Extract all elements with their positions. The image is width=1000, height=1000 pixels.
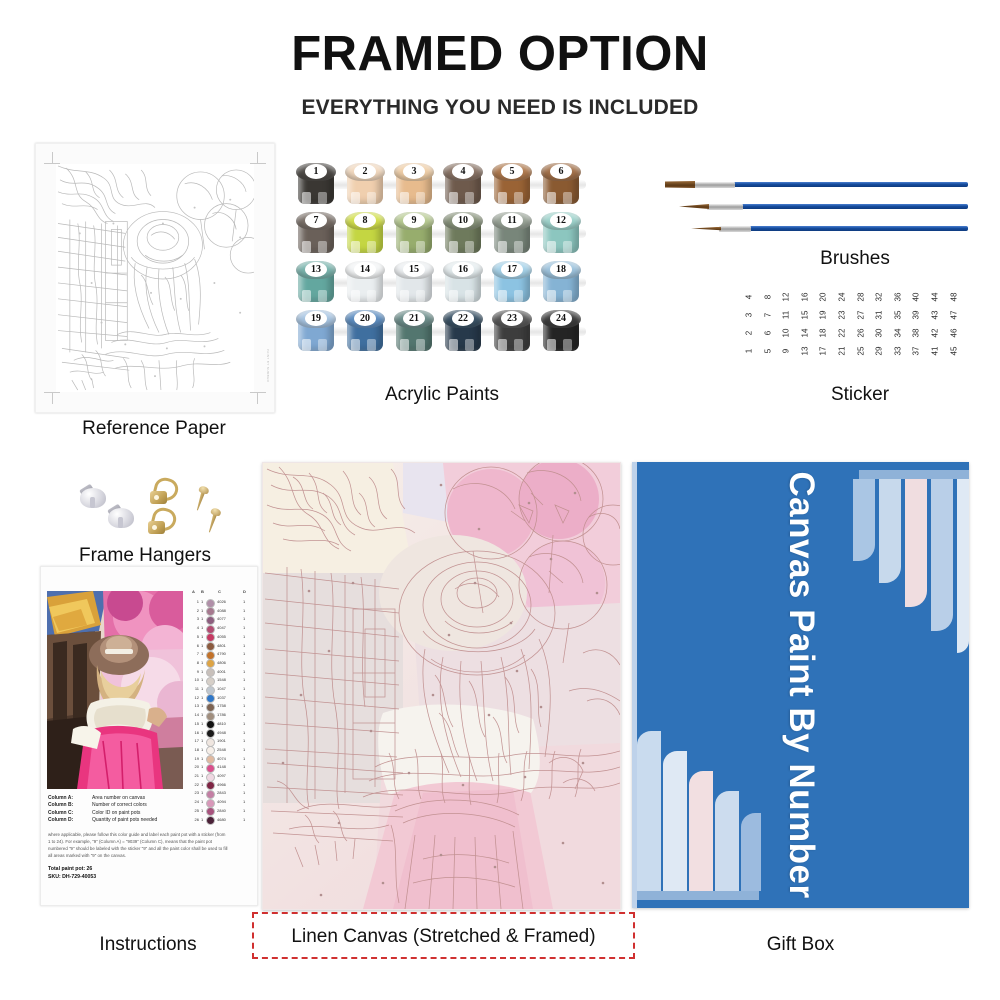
legend-area-number: 13 bbox=[191, 703, 199, 708]
legend-color-id: 1786 bbox=[217, 712, 226, 717]
legend-row: 12110371 bbox=[191, 694, 251, 703]
sticker-number: 29 bbox=[871, 344, 889, 359]
sticker-number: 23 bbox=[834, 308, 852, 323]
legend-quantity: 1 bbox=[243, 738, 245, 743]
legend-area-number: 1 bbox=[191, 599, 199, 604]
legend-area-number: 15 bbox=[191, 721, 199, 726]
legend-row: 16149481 bbox=[191, 729, 251, 738]
sticker-number: 32 bbox=[871, 290, 889, 305]
paint-pot-number: 17 bbox=[501, 262, 523, 277]
sticker-number: 1 bbox=[741, 344, 759, 359]
page-subtitle: EVERYTHING YOU NEED IS INCLUDED bbox=[0, 96, 1000, 120]
legend-color-count: 1 bbox=[201, 634, 203, 639]
legend-color-id: 2548 bbox=[217, 747, 226, 752]
legend-row: 4140471 bbox=[191, 624, 251, 633]
sticker-number: 19 bbox=[815, 308, 833, 323]
legend-color-id: 4077 bbox=[217, 616, 226, 621]
legend-quantity: 1 bbox=[243, 660, 245, 665]
paint-pot-number: 8 bbox=[354, 213, 376, 228]
sticker-column: 37383940 bbox=[909, 288, 924, 360]
screw-icon bbox=[204, 507, 222, 535]
sticker-number: 20 bbox=[815, 290, 833, 305]
sticker-number: 46 bbox=[945, 326, 963, 341]
caption-reference-paper: Reference Paper bbox=[35, 418, 273, 440]
legend-quantity: 1 bbox=[243, 677, 245, 682]
legend-row: 22149661 bbox=[191, 781, 251, 790]
legend-color-id: 1037 bbox=[217, 695, 226, 700]
sticker-number: 36 bbox=[889, 290, 907, 305]
instruction-column-key: Column C: bbox=[48, 810, 92, 817]
legend-color-count: 1 bbox=[201, 660, 203, 665]
instruction-column-line: Column A:Area number on canvas bbox=[48, 795, 248, 802]
paint-pot-18: 18 bbox=[541, 261, 581, 303]
legend-color-id: 4097 bbox=[217, 773, 226, 778]
sticker-number: 35 bbox=[889, 308, 907, 323]
sticker-number: 27 bbox=[852, 308, 870, 323]
instruction-column-line: Column B:Number of correct colors bbox=[48, 802, 248, 809]
legend-quantity: 1 bbox=[243, 747, 245, 752]
sticker-number: 13 bbox=[796, 344, 814, 359]
instruction-column-desc: Quantity of paint pots needed bbox=[92, 817, 157, 823]
caption-acrylic-paints: Acrylic Paints bbox=[292, 384, 592, 406]
instruction-column-key: Column D: bbox=[48, 817, 92, 824]
sticker-number: 9 bbox=[778, 344, 796, 359]
brush-round-fine bbox=[623, 216, 968, 242]
paint-pot-number: 20 bbox=[354, 311, 376, 326]
legend-quantity: 1 bbox=[243, 764, 245, 769]
legend-area-number: 8 bbox=[191, 660, 199, 665]
legend-quantity: 1 bbox=[243, 695, 245, 700]
sticker-number: 30 bbox=[871, 326, 889, 341]
sticker-number: 7 bbox=[759, 308, 777, 323]
sticker-sheet: 1234567891011121314151617181920212223242… bbox=[742, 288, 967, 360]
legend-quantity: 1 bbox=[243, 616, 245, 621]
paint-pot-23: 23 bbox=[492, 310, 532, 352]
legend-row: 15148101 bbox=[191, 720, 251, 729]
paint-pot-number: 16 bbox=[452, 262, 474, 277]
paint-pot-16: 16 bbox=[443, 261, 483, 303]
legend-color-id: 4055 bbox=[217, 634, 226, 639]
legend-color-count: 1 bbox=[201, 764, 203, 769]
sticker-column: 45464748 bbox=[947, 288, 962, 360]
sticker-column: 41424344 bbox=[928, 288, 943, 360]
sticker-number: 43 bbox=[927, 308, 945, 323]
sku-label: SKU: DH-729-40053 bbox=[48, 873, 248, 881]
sticker-number: 6 bbox=[759, 326, 777, 341]
legend-color-id: 4148 bbox=[217, 764, 226, 769]
sticker-number: 33 bbox=[889, 344, 907, 359]
legend-header-b: B bbox=[201, 589, 204, 594]
wall-plug-icon bbox=[80, 482, 106, 508]
frame-hangers-group bbox=[60, 468, 235, 546]
sticker-number: 38 bbox=[908, 326, 926, 341]
sticker-number: 16 bbox=[796, 290, 814, 305]
legend-color-count: 1 bbox=[201, 651, 203, 656]
caption-linen-canvas: Linen Canvas (Stretched & Framed) bbox=[254, 926, 633, 948]
legend-area-number: 19 bbox=[191, 756, 199, 761]
paint-pot-number: 23 bbox=[501, 311, 523, 326]
legend-row: 1140261 bbox=[191, 598, 251, 607]
instruction-column-line: Column D:Quantity of paint pots needed bbox=[48, 817, 248, 824]
legend-color-id: 4074 bbox=[217, 756, 226, 761]
sticker-number: 37 bbox=[908, 344, 926, 359]
caption-instructions: Instructions bbox=[40, 934, 256, 956]
legend-color-count: 1 bbox=[201, 677, 203, 682]
paint-pot-number: 19 bbox=[305, 311, 327, 326]
paint-pot-20: 20 bbox=[345, 310, 385, 352]
sticker-number: 21 bbox=[834, 344, 852, 359]
legend-area-number: 12 bbox=[191, 695, 199, 700]
legend-header-a: A bbox=[192, 589, 195, 594]
sticker-number: 2 bbox=[741, 326, 759, 341]
legend-color-count: 1 bbox=[201, 703, 203, 708]
legend-color-id: 4088 bbox=[217, 608, 226, 613]
legend-quantity: 1 bbox=[243, 625, 245, 630]
paint-pot-4: 4 bbox=[443, 163, 483, 205]
legend-area-number: 21 bbox=[191, 773, 199, 778]
legend-area-number: 20 bbox=[191, 764, 199, 769]
legend-quantity: 1 bbox=[243, 634, 245, 639]
sticker-number: 39 bbox=[908, 308, 926, 323]
paint-pot-9: 9 bbox=[394, 212, 434, 254]
instruction-column-key: Column A: bbox=[48, 795, 92, 802]
instruction-column-desc: Number of correct colors bbox=[92, 802, 147, 808]
sticker-number: 4 bbox=[741, 290, 759, 305]
wall-plug-icon bbox=[108, 502, 134, 528]
paint-pot-number: 11 bbox=[501, 213, 523, 228]
sticker-number: 15 bbox=[796, 308, 814, 323]
legend-area-number: 10 bbox=[191, 677, 199, 682]
legend-header-c: C bbox=[218, 589, 221, 594]
reference-paper-image: PAINT BY NUMBER bbox=[35, 143, 275, 413]
legend-quantity: 1 bbox=[243, 703, 245, 708]
paint-pot-number: 1 bbox=[305, 164, 327, 179]
legend-row: 8148061 bbox=[191, 659, 251, 668]
legend-row: 18125481 bbox=[191, 746, 251, 755]
linen-canvas-image bbox=[262, 462, 621, 910]
sticker-number: 44 bbox=[927, 290, 945, 305]
legend-color-count: 1 bbox=[201, 686, 203, 691]
paint-pot-number: 14 bbox=[354, 262, 376, 277]
instruction-footer: Total paint pot: 26SKU: DH-729-40053 bbox=[48, 865, 248, 881]
caption-gift-box: Gift Box bbox=[632, 934, 969, 956]
sticker-number: 41 bbox=[927, 344, 945, 359]
paint-pot-15: 15 bbox=[394, 261, 434, 303]
legend-row: 6148011 bbox=[191, 642, 251, 651]
caption-sticker: Sticker bbox=[760, 384, 960, 406]
legend-quantity: 1 bbox=[243, 782, 245, 787]
legend-row: 19140741 bbox=[191, 755, 251, 764]
paint-pot-number: 4 bbox=[452, 164, 474, 179]
legend-row: 10115481 bbox=[191, 676, 251, 685]
paint-pot-number: 21 bbox=[403, 311, 425, 326]
total-paint-pot-label: Total paint pot: 26 bbox=[48, 865, 248, 873]
legend-color-id: 4047 bbox=[217, 625, 226, 630]
paint-pot-7: 7 bbox=[296, 212, 336, 254]
sticker-number: 45 bbox=[945, 344, 963, 359]
sticker-column: 17181920 bbox=[816, 288, 831, 360]
legend-area-number: 5 bbox=[191, 634, 199, 639]
legend-area-number: 9 bbox=[191, 669, 199, 674]
legend-color-id: 1047 bbox=[217, 686, 226, 691]
paint-pot-1: 1 bbox=[296, 163, 336, 205]
legend-quantity: 1 bbox=[243, 712, 245, 717]
gift-box-text: Canvas Paint By Number bbox=[781, 471, 821, 898]
legend-area-number: 14 bbox=[191, 712, 199, 717]
legend-area-number: 4 bbox=[191, 625, 199, 630]
page-title: FRAMED OPTION bbox=[0, 30, 1000, 79]
sticker-number: 18 bbox=[815, 326, 833, 341]
paint-pot-number: 15 bbox=[403, 262, 425, 277]
paint-pot-number: 3 bbox=[403, 164, 425, 179]
paint-pot-17: 17 bbox=[492, 261, 532, 303]
sticker-number: 17 bbox=[815, 344, 833, 359]
paint-pot-8: 8 bbox=[345, 212, 385, 254]
sticker-number: 34 bbox=[889, 326, 907, 341]
paint-pot-number: 5 bbox=[501, 164, 523, 179]
legend-area-number: 6 bbox=[191, 643, 199, 648]
legend-row: 11110471 bbox=[191, 685, 251, 694]
d-ring-hanger-icon bbox=[150, 478, 178, 504]
legend-area-number: 7 bbox=[191, 651, 199, 656]
legend-quantity: 1 bbox=[243, 669, 245, 674]
legend-color-count: 1 bbox=[201, 599, 203, 604]
legend-area-number: 11 bbox=[191, 686, 199, 691]
legend-color-count: 1 bbox=[201, 695, 203, 700]
legend-color-id: 4948 bbox=[217, 730, 226, 735]
legend-row: 3140771 bbox=[191, 615, 251, 624]
paint-row: 123456 bbox=[292, 163, 592, 207]
paint-pot-number: 24 bbox=[550, 311, 572, 326]
paint-pot-10: 10 bbox=[443, 212, 483, 254]
sticker-number: 22 bbox=[834, 326, 852, 341]
legend-quantity: 1 bbox=[243, 599, 245, 604]
sticker-number: 8 bbox=[759, 290, 777, 305]
paint-row: 192021222324 bbox=[292, 310, 592, 354]
instructions-sheet: ABCD114026121408813140771414047151405516… bbox=[40, 566, 258, 906]
sticker-column: 9101112 bbox=[779, 288, 794, 360]
legend-color-count: 1 bbox=[201, 616, 203, 621]
paint-row: 789101112 bbox=[292, 212, 592, 256]
paint-pot-13: 13 bbox=[296, 261, 336, 303]
legend-area-number: 2 bbox=[191, 608, 199, 613]
acrylic-paints-group: 123456789101112131415161718192021222324 bbox=[292, 163, 592, 359]
sticker-number: 11 bbox=[778, 308, 796, 323]
legend-color-count: 1 bbox=[201, 608, 203, 613]
paint-pot-24: 24 bbox=[541, 310, 581, 352]
legend-color-count: 1 bbox=[201, 738, 203, 743]
reference-line-art bbox=[56, 164, 254, 392]
paint-pot-3: 3 bbox=[394, 163, 434, 205]
sticker-number: 5 bbox=[759, 344, 777, 359]
paint-pot-22: 22 bbox=[443, 310, 483, 352]
sticker-number: 10 bbox=[778, 326, 796, 341]
paint-pot-number: 13 bbox=[305, 262, 327, 277]
legend-quantity: 1 bbox=[243, 730, 245, 735]
legend-row: 2140881 bbox=[191, 607, 251, 616]
product-sheet: FRAMED OPTION EVERYTHING YOU NEED IS INC… bbox=[0, 0, 1000, 1000]
sticker-column: 25262728 bbox=[854, 288, 869, 360]
legend-color-count: 1 bbox=[201, 625, 203, 630]
sticker-column: 13141516 bbox=[798, 288, 813, 360]
legend-quantity: 1 bbox=[243, 773, 245, 778]
legend-color-id: 1901 bbox=[217, 738, 226, 743]
legend-row: 5140551 bbox=[191, 633, 251, 642]
legend-color-count: 1 bbox=[201, 643, 203, 648]
legend-color-id: 4801 bbox=[217, 643, 226, 648]
instructions-color-preview bbox=[47, 591, 183, 789]
legend-color-id: 1548 bbox=[217, 677, 226, 682]
sticker-number: 3 bbox=[741, 308, 759, 323]
legend-color-count: 1 bbox=[201, 756, 203, 761]
paint-pot-19: 19 bbox=[296, 310, 336, 352]
legend-row: 17119011 bbox=[191, 737, 251, 746]
instruction-column-desc: Area number on canvas bbox=[92, 795, 145, 801]
d-ring-hanger-icon bbox=[148, 508, 176, 534]
gift-box-image: Canvas Paint By Number bbox=[632, 462, 969, 908]
instruction-column-line: Column C:Color ID on paint pots bbox=[48, 810, 248, 817]
legend-color-id: 4966 bbox=[217, 782, 226, 787]
paint-pot-12: 12 bbox=[541, 212, 581, 254]
legend-color-id: 4806 bbox=[217, 660, 226, 665]
legend-color-count: 1 bbox=[201, 747, 203, 752]
sticker-number: 28 bbox=[852, 290, 870, 305]
paint-pot-number: 9 bbox=[403, 213, 425, 228]
screw-icon bbox=[192, 485, 210, 513]
sticker-column: 33343536 bbox=[891, 288, 906, 360]
legend-quantity: 1 bbox=[243, 608, 245, 613]
instruction-column-key: Column B: bbox=[48, 802, 92, 809]
paint-row: 131415161718 bbox=[292, 261, 592, 305]
sticker-column: 29303132 bbox=[872, 288, 887, 360]
paint-pot-2: 2 bbox=[345, 163, 385, 205]
paint-pot-21: 21 bbox=[394, 310, 434, 352]
paint-pot-number: 10 bbox=[452, 213, 474, 228]
legend-row: 14117861 bbox=[191, 711, 251, 720]
paint-pot-14: 14 bbox=[345, 261, 385, 303]
legend-color-id: 4001 bbox=[217, 669, 226, 674]
legend-color-count: 1 bbox=[201, 730, 203, 735]
legend-row: 20141481 bbox=[191, 763, 251, 772]
legend-header-row: ABCD bbox=[191, 589, 251, 596]
legend-row: 9140011 bbox=[191, 668, 251, 677]
legend-color-count: 1 bbox=[201, 773, 203, 778]
sticker-column: 5678 bbox=[761, 288, 776, 360]
sticker-number: 24 bbox=[834, 290, 852, 305]
legend-quantity: 1 bbox=[243, 756, 245, 761]
legend-header-d: D bbox=[243, 589, 246, 594]
sticker-number: 14 bbox=[796, 326, 814, 341]
legend-quantity: 1 bbox=[243, 686, 245, 691]
paint-pot-11: 11 bbox=[492, 212, 532, 254]
paint-pot-number: 12 bbox=[550, 213, 572, 228]
legend-row: 13117581 bbox=[191, 702, 251, 711]
sticker-number: 25 bbox=[852, 344, 870, 359]
paint-pot-number: 2 bbox=[354, 164, 376, 179]
sticker-number: 47 bbox=[945, 308, 963, 323]
reference-paper-sidenote: PAINT BY NUMBER bbox=[266, 349, 270, 382]
paint-pot-number: 7 bbox=[305, 213, 327, 228]
legend-area-number: 16 bbox=[191, 730, 199, 735]
legend-color-id: 4026 bbox=[217, 599, 226, 604]
paint-pot-number: 6 bbox=[550, 164, 572, 179]
legend-area-number: 3 bbox=[191, 616, 199, 621]
sticker-number: 31 bbox=[871, 308, 889, 323]
legend-color-id: 1758 bbox=[217, 703, 226, 708]
instruction-paragraph: where applicable, please follow this col… bbox=[48, 831, 228, 859]
legend-color-count: 1 bbox=[201, 712, 203, 717]
paint-pot-5: 5 bbox=[492, 163, 532, 205]
legend-quantity: 1 bbox=[243, 643, 245, 648]
sticker-number: 42 bbox=[927, 326, 945, 341]
caption-linen-canvas-highlight: Linen Canvas (Stretched & Framed) bbox=[252, 912, 635, 959]
paint-pot-number: 18 bbox=[550, 262, 572, 277]
legend-color-id: 4810 bbox=[217, 721, 226, 726]
instruction-column-desc: Color ID on paint pots bbox=[92, 810, 140, 816]
legend-color-count: 1 bbox=[201, 721, 203, 726]
sticker-column: 21222324 bbox=[835, 288, 850, 360]
legend-quantity: 1 bbox=[243, 651, 245, 656]
legend-area-number: 18 bbox=[191, 747, 199, 752]
legend-quantity: 1 bbox=[243, 721, 245, 726]
instructions-text-block: Column A:Area number on canvasColumn B:N… bbox=[48, 795, 248, 881]
legend-area-number: 17 bbox=[191, 738, 199, 743]
sticker-number: 12 bbox=[778, 290, 796, 305]
legend-color-count: 1 bbox=[201, 782, 203, 787]
legend-color-id: 4790 bbox=[217, 651, 226, 656]
legend-area-number: 22 bbox=[191, 782, 199, 787]
legend-row: 7147901 bbox=[191, 650, 251, 659]
legend-row: 21140971 bbox=[191, 772, 251, 781]
caption-brushes: Brushes bbox=[740, 248, 970, 270]
sticker-column: 1234 bbox=[742, 288, 757, 360]
caption-frame-hangers: Frame Hangers bbox=[45, 545, 245, 567]
legend-color-count: 1 bbox=[201, 669, 203, 674]
sticker-number: 48 bbox=[945, 290, 963, 305]
sticker-number: 40 bbox=[908, 290, 926, 305]
sticker-number: 26 bbox=[852, 326, 870, 341]
paint-pot-6: 6 bbox=[541, 163, 581, 205]
paint-pot-number: 22 bbox=[452, 311, 474, 326]
